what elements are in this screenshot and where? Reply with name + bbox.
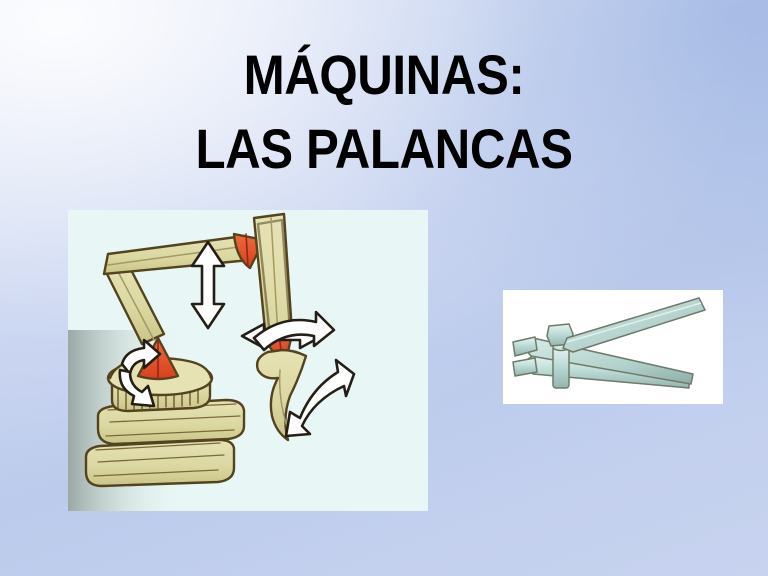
slide-canvas: MÁQUINAS: LAS PALANCAS	[0, 0, 768, 576]
robotic-arm-drawing	[68, 210, 428, 511]
nail-clipper-image	[503, 290, 723, 404]
page-title: MÁQUINAS: LAS PALANCAS	[0, 38, 768, 187]
nail-clipper-drawing	[503, 290, 723, 404]
title-line-2: LAS PALANCAS	[46, 112, 722, 186]
title-line-1: MÁQUINAS:	[46, 38, 722, 112]
robotic-arm-image	[68, 210, 428, 511]
